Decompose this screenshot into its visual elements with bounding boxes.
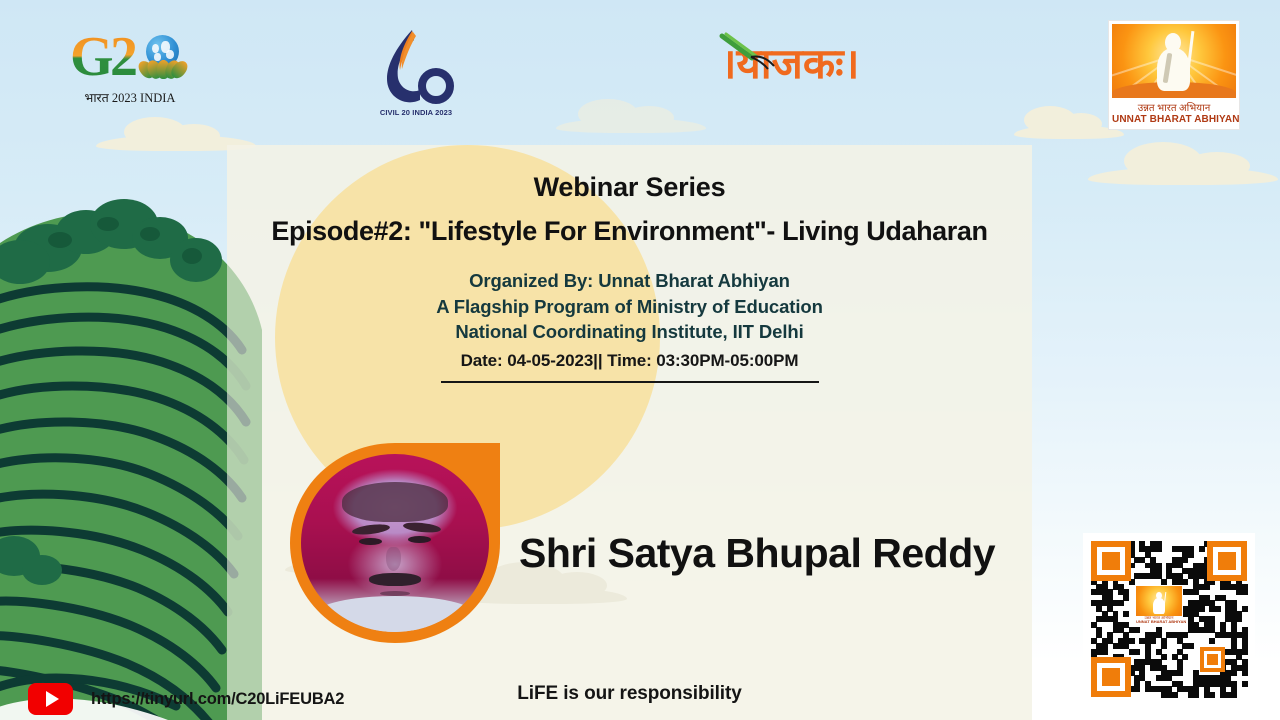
organizer-block: Organized By: Unnat Bharat Abhiyan A Fla… (227, 268, 1032, 383)
uba-emblem-image (1112, 24, 1236, 98)
qr-code[interactable]: उन्नत भारत अभियान UNNAT BHARAT ABHIYAN (1083, 533, 1255, 705)
qr-module (1156, 573, 1162, 579)
qr-logo-caption-english: UNNAT BHARAT ABHIYAN (1136, 620, 1182, 624)
qr-module (1134, 573, 1140, 579)
qr-module (1123, 611, 1129, 617)
date-time-text: Date: 04-05-2023|| Time: 03:30PM-05:00PM (227, 349, 1032, 372)
uba-caption-hindi: उन्नत भारत अभियान (1112, 100, 1236, 114)
g20-logo: G 2 भारत 2023 INDIA (70, 33, 190, 115)
unnat-bharat-abhiyan-logo: उन्नत भारत अभियान UNNAT BHARAT ABHIYAN (1108, 20, 1240, 130)
qr-module (1134, 686, 1140, 692)
grain-stalk-icon (718, 32, 778, 70)
qr-module (1182, 632, 1188, 638)
organizer-line-3: National Coordinating Institute, IIT Del… (227, 319, 1032, 345)
qr-module (1204, 584, 1210, 590)
qr-module (1182, 654, 1188, 660)
speaker-portrait-image (301, 454, 489, 632)
qr-module (1209, 638, 1215, 644)
qr-module (1242, 681, 1248, 687)
uba-caption-english: UNNAT BHARAT ABHIYAN (1112, 114, 1236, 125)
webinar-poster: Webinar Series Episode#2: "Lifestyle For… (0, 0, 1280, 720)
qr-module (1182, 579, 1188, 585)
qr-module (1242, 649, 1248, 655)
qr-module (1150, 638, 1156, 644)
qr-module (1242, 670, 1248, 676)
qr-module (1231, 670, 1237, 676)
qr-module (1166, 573, 1172, 579)
organizer-line-2: A Flagship Program of Ministry of Educat… (227, 294, 1032, 320)
organizer-line-1: Organized By: Unnat Bharat Abhiyan (227, 268, 1032, 294)
qr-module (1188, 573, 1194, 579)
g20-caption: भारत 2023 INDIA (70, 89, 190, 106)
g20-lotus-icon (140, 59, 186, 79)
qr-module (1134, 649, 1140, 655)
qr-module (1177, 573, 1183, 579)
qr-module (1161, 654, 1167, 660)
qr-module (1199, 606, 1205, 612)
date-underline-rule (441, 381, 819, 383)
qr-center-logo: उन्नत भारत अभियान UNNAT BHARAT ABHIYAN (1135, 585, 1183, 627)
qr-module (1118, 600, 1124, 606)
qr-module (1193, 692, 1199, 698)
c20-caption: CIVIL 20 INDIA 2023 (366, 108, 466, 117)
qr-module (1182, 557, 1188, 563)
qr-module (1123, 595, 1129, 601)
qr-module (1172, 692, 1178, 698)
tagline-text: LiFE is our responsibility (227, 683, 1032, 705)
c20-letter-o (418, 68, 454, 104)
qr-module (1199, 546, 1205, 552)
qr-module (1231, 692, 1237, 698)
qr-alignment-pattern (1200, 647, 1225, 672)
g20-caption-year: 2023 INDIA (112, 91, 176, 105)
qr-finder-bottom-left (1091, 657, 1131, 697)
qr-module (1156, 546, 1162, 552)
episode-subtitle: Episode#2: "Lifestyle For Environment"- … (227, 216, 1032, 247)
qr-module (1145, 573, 1151, 579)
registration-url[interactable]: https://tinyurl.com/C20LiFEUBA2 (91, 690, 344, 709)
page-title: Webinar Series (227, 172, 1032, 203)
yajak-logo: ।याजकः। (710, 38, 870, 104)
youtube-link-row[interactable]: https://tinyurl.com/C20LiFEUBA2 (28, 682, 344, 716)
gandhi-figure-icon (1152, 33, 1196, 89)
qr-module (1134, 627, 1140, 633)
qr-module (1177, 670, 1183, 676)
g20-caption-hindi: भारत (85, 91, 109, 105)
g20-digit-2: 2 (110, 29, 138, 85)
speaker-name: Shri Satya Bhupal Reddy (519, 530, 995, 577)
qr-module (1161, 643, 1167, 649)
qr-module (1129, 638, 1135, 644)
content-panel: Webinar Series Episode#2: "Lifestyle For… (227, 145, 1032, 720)
qr-module (1102, 649, 1108, 655)
c20-logo: CIVIL 20 INDIA 2023 (368, 28, 464, 128)
speaker-photo (290, 443, 500, 643)
cloud-sky-mid (556, 96, 706, 136)
cloud-sky-right (1088, 140, 1278, 188)
qr-module (1188, 643, 1194, 649)
qr-module (1209, 692, 1215, 698)
qr-module (1215, 606, 1221, 612)
qr-module (1242, 589, 1248, 595)
qr-module (1242, 606, 1248, 612)
qr-finder-top-left (1091, 541, 1131, 581)
youtube-icon[interactable] (28, 683, 73, 715)
g20-letter-g: G (70, 29, 114, 85)
qr-module (1161, 579, 1167, 585)
qr-module (1188, 552, 1194, 558)
qr-finder-top-right (1207, 541, 1247, 581)
qr-module (1199, 573, 1205, 579)
title-block: Webinar Series Episode#2: "Lifestyle For… (227, 172, 1032, 247)
qr-module (1236, 616, 1242, 622)
